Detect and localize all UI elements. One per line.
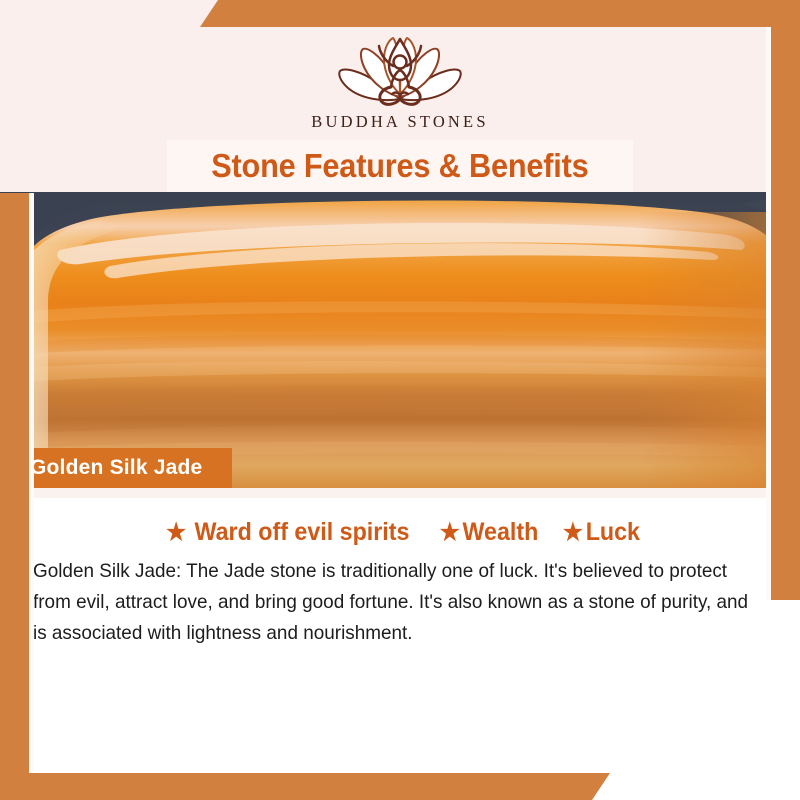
stone-name-badge: Golden Silk Jade [0,448,232,488]
frame-bar-left [0,193,29,800]
star-icon: ★ [166,521,186,545]
benefit-item: ★ Wealth [440,518,539,547]
frame-inner-gap-left [29,193,34,773]
frame-bar-bottom [0,773,610,800]
benefit-label: Wealth [463,518,539,547]
benefit-label: Ward off evil spirits [194,518,409,547]
benefit-item: ★ Luck [563,518,640,547]
star-icon: ★ [563,521,583,545]
lotus-meditation-icon [325,24,475,108]
stone-name-text: Golden Silk Jade [30,456,202,480]
frame-inner-gap-right [766,27,771,600]
frame-bar-right [771,0,800,600]
star-icon: ★ [440,521,460,545]
page-title: Stone Features & Benefits [211,147,588,185]
stone-features-poster: BUDDHA STONES Stone Features & Benefits [0,0,800,800]
brand-logo: BUDDHA STONES [0,24,800,132]
stone-photo [0,192,800,488]
benefit-item: ★ Ward off evil spirits [166,518,409,547]
stone-photo-graphic [0,192,800,488]
brand-name: BUDDHA STONES [311,112,488,132]
frame-bar-top [200,0,800,27]
stone-description: Golden Silk Jade: The Jade stone is trad… [33,556,753,649]
content-panel: ★ Ward off evil spirits ★ Wealth ★ Luck … [0,488,800,800]
title-plate: Stone Features & Benefits [167,140,633,192]
benefit-label: Luck [586,518,640,547]
benefits-list: ★ Ward off evil spirits ★ Wealth ★ Luck [0,518,800,547]
